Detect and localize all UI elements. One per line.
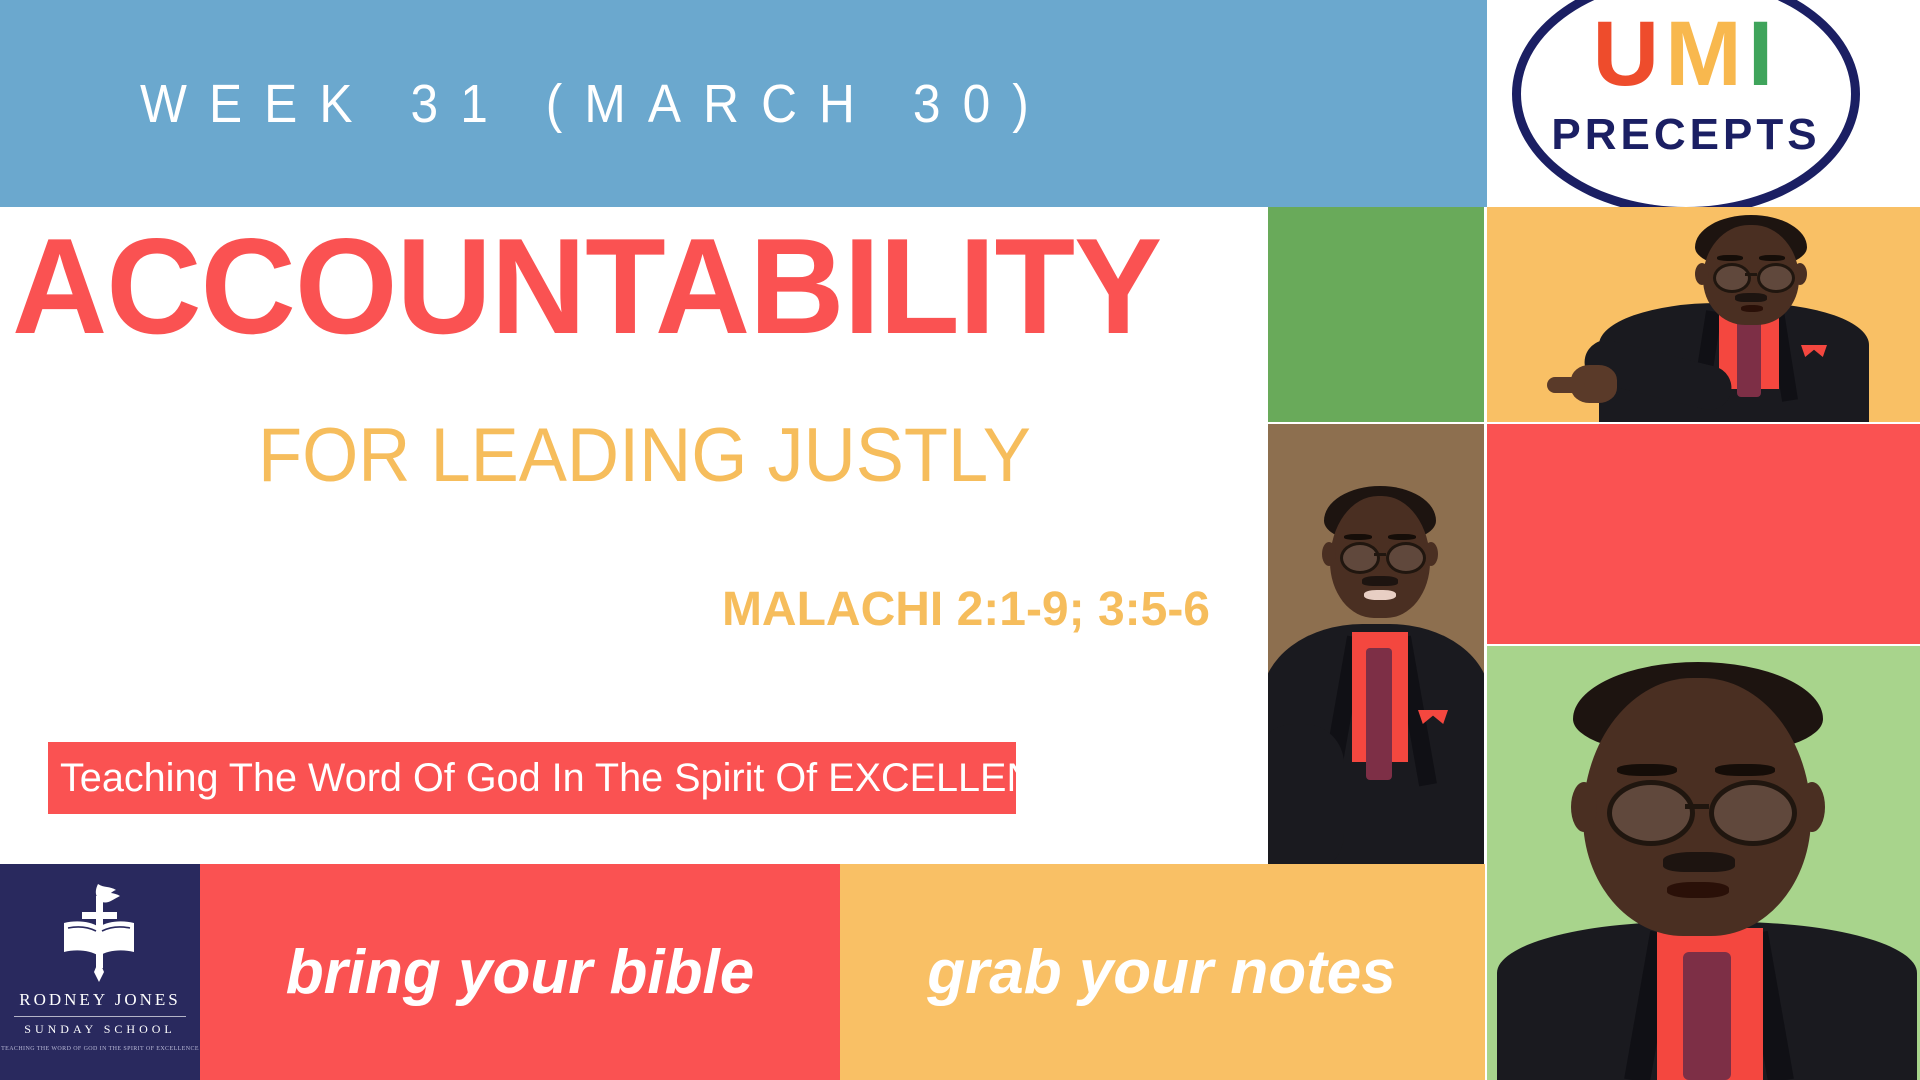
umi-letter-u: U — [1593, 3, 1665, 105]
header-band: WEEK 31 (MARCH 30) — [0, 0, 1487, 207]
page-subtitle: FOR LEADING JUSTLY — [258, 418, 1113, 494]
umi-letters: UMI — [1512, 8, 1860, 100]
portrait-pointing — [1487, 207, 1920, 422]
week-label: WEEK 31 (MARCH 30) — [140, 73, 1051, 135]
collage-brown-block — [1268, 424, 1484, 864]
umi-letter-m: M — [1665, 3, 1748, 105]
portrait-closeup — [1487, 646, 1920, 1080]
rodney-jones-subtitle: SUNDAY SCHOOL — [0, 1022, 200, 1037]
umi-wordmark: PRECEPTS — [1512, 110, 1860, 160]
lesson-graphic-canvas: WEEK 31 (MARCH 30) UMI PRECEPTS — [0, 0, 1920, 1080]
tagline-band: Teaching The Word Of God In The Spirit O… — [48, 742, 1016, 814]
umi-letter-i: I — [1748, 3, 1780, 105]
tagline-text: Teaching The Word Of God In The Spirit O… — [60, 756, 1090, 801]
collage-red-block — [1487, 424, 1920, 644]
cta-bring-bible-bar[interactable]: bring your bible — [200, 864, 840, 1080]
rodney-jones-divider — [14, 1016, 186, 1017]
scripture-reference: MALACHI 2:1-9; 3:5-6 — [0, 586, 1210, 634]
cta-grab-notes-wrap[interactable]: grab your notes — [838, 864, 1485, 1080]
rodney-jones-name: RODNEY JONES — [0, 990, 200, 1010]
collage-light-green-block — [1487, 646, 1920, 1080]
page-title: ACCOUNTABILITY — [12, 218, 1215, 354]
umi-precepts-logo: UMI PRECEPTS — [1512, 0, 1872, 220]
collage-amber-block — [1487, 207, 1920, 422]
dove-cross-book-icon — [52, 882, 148, 982]
portrait-smiling — [1268, 424, 1484, 864]
rodney-jones-tiny-tagline: TEACHING THE WORD OF GOD IN THE SPIRIT O… — [0, 1046, 200, 1052]
rodney-jones-logo-box: RODNEY JONES SUNDAY SCHOOL TEACHING THE … — [0, 864, 200, 1080]
cta-bring-bible-label: bring your bible — [286, 937, 754, 1008]
cta-grab-notes-label: grab your notes — [927, 937, 1396, 1008]
collage-green-block — [1268, 207, 1484, 422]
